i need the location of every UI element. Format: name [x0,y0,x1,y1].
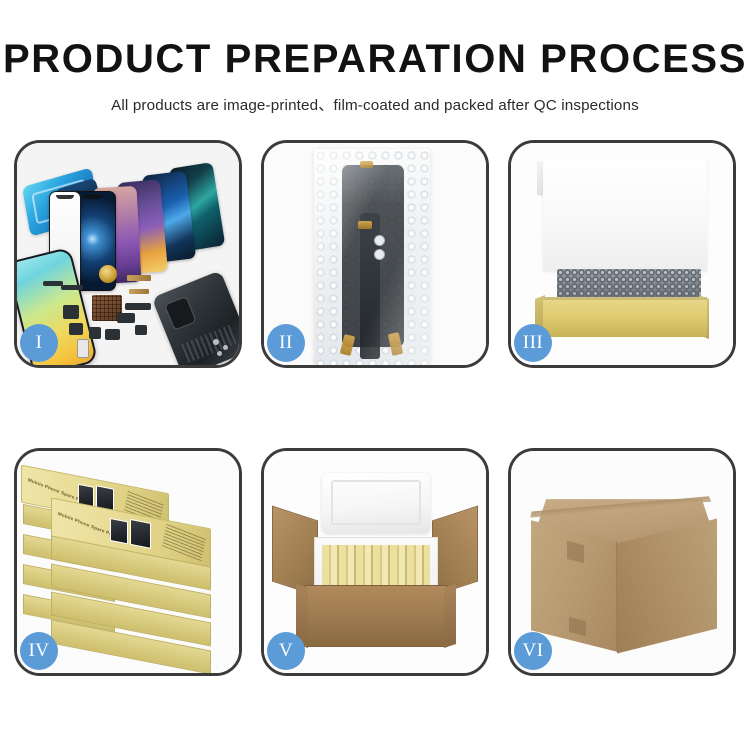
flex-cable-1 [127,275,151,281]
step-badge-6: VI [514,632,552,670]
speaker-module [99,265,117,283]
connector-dot-2 [374,249,385,260]
process-step-panel-3[interactable]: III [508,140,736,368]
step-badge-2: II [267,324,305,362]
box-chip-art-3 [110,518,128,544]
bubble-wrap-bag [314,149,430,365]
sim-tray [77,339,89,358]
header: PRODUCT PREPARATION PROCESS All products… [0,0,750,115]
page-title: PRODUCT PREPARATION PROCESS [0,38,750,80]
screw-2 [223,345,228,350]
step-badge-5: V [267,632,305,670]
box-spec-lines-2 [162,523,206,561]
vibrator-module [117,313,135,323]
process-step-panel-4[interactable]: Mobile Phone Spare Parts Mobile Phone Sp… [14,448,242,676]
step-badge-1: I [20,324,58,362]
process-step-grid: I II [14,140,737,676]
phone-notch-icon [84,195,102,199]
box-chip-art-4 [130,519,151,549]
bracket-2 [69,323,83,335]
flex-cable-2 [129,289,149,294]
bracket-3 [89,327,101,339]
flex-cable-3 [125,303,151,310]
tape-middle [358,221,372,229]
cardboard-carton-body [304,585,448,647]
packed-yellow-boxes [322,545,430,587]
component-strip-1 [61,285,83,290]
carton-flap-left [272,506,318,597]
camera-module [105,329,120,340]
tape-top [360,161,373,168]
styrofoam-lid [322,473,430,533]
process-step-panel-6[interactable]: VI [508,448,736,676]
process-step-panel-1[interactable]: I [14,140,242,368]
connector-module [135,325,147,335]
process-step-panel-2[interactable]: II [261,140,489,368]
component-strip-2 [43,281,63,286]
yellow-box-front [543,297,707,337]
screen-notch-icon [56,195,74,199]
grey-bubble-foam [557,269,701,299]
connector-dot-1 [374,235,385,246]
carton-flap-right [432,506,478,597]
white-box-lid [543,159,707,271]
page-subtitle: All products are image-printed、film-coat… [0,93,750,115]
process-step-panel-5[interactable]: V [261,448,489,676]
bracket-1 [63,305,79,319]
screw-3 [217,351,222,356]
step-badge-3: III [514,324,552,362]
screw-1 [213,339,219,345]
step-badge-4: IV [20,632,58,670]
